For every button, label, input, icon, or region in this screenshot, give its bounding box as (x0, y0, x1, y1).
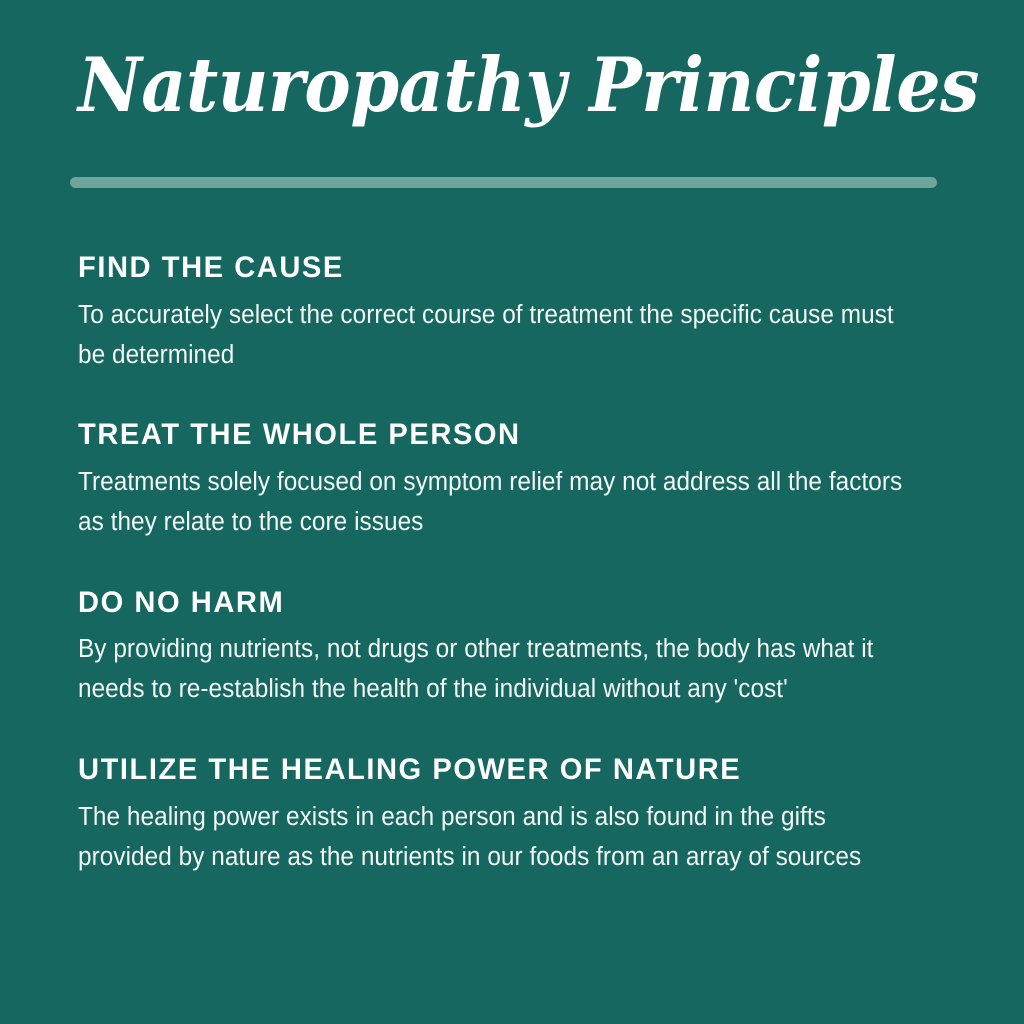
principle-item: FIND THE CAUSE To accurately select the … (78, 252, 954, 375)
principle-heading-treat-the-whole-person: TREAT THE WHOLE PERSON (78, 419, 928, 451)
title-divider-rule (70, 177, 937, 188)
naturopathy-principles-poster: Naturopathy Principles FIND THE CAUSE To… (0, 0, 1024, 1024)
principle-body-find-the-cause: To accurately select the correct course … (78, 296, 915, 376)
principle-item: UTILIZE THE HEALING POWER OF NATURE The … (78, 754, 954, 877)
page-title: Naturopathy Principles (78, 46, 885, 124)
principle-body-utilize-the-healing-power-of-nature: The healing power exists in each person … (78, 798, 915, 878)
principle-body-treat-the-whole-person: Treatments solely focused on symptom rel… (78, 463, 915, 543)
principle-heading-utilize-the-healing-power-of-nature: UTILIZE THE HEALING POWER OF NATURE (78, 754, 928, 786)
title-container: Naturopathy Principles (78, 46, 946, 124)
principle-heading-do-no-harm: DO NO HARM (78, 587, 928, 619)
principle-body-do-no-harm: By providing nutrients, not drugs or oth… (78, 630, 915, 710)
principles-list: FIND THE CAUSE To accurately select the … (78, 252, 954, 877)
principle-item: TREAT THE WHOLE PERSON Treatments solely… (78, 419, 954, 542)
principle-heading-find-the-cause: FIND THE CAUSE (78, 252, 928, 284)
principle-item: DO NO HARM By providing nutrients, not d… (78, 587, 954, 710)
